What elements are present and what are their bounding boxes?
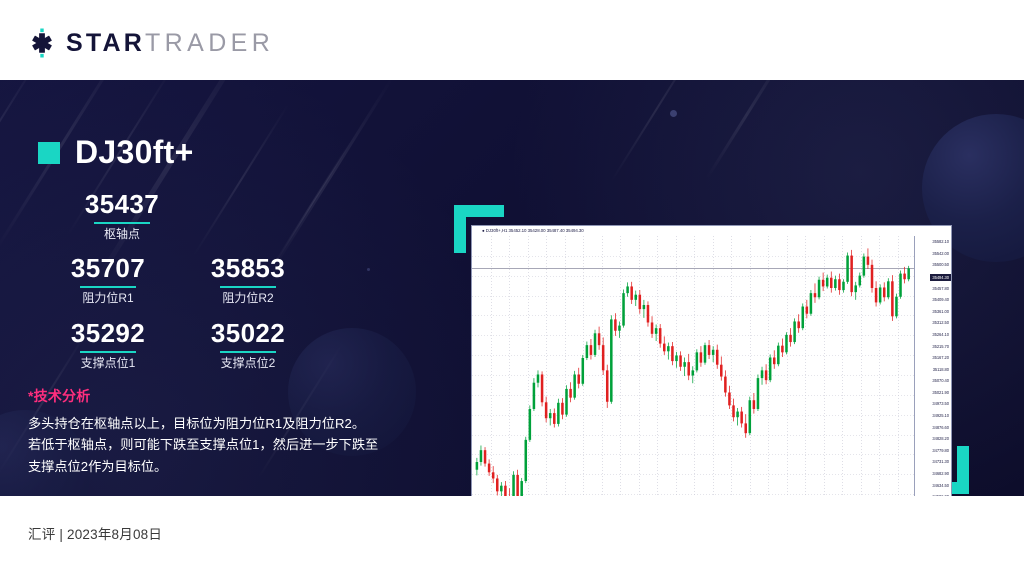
level-resistance-2-value: 35853 xyxy=(178,254,318,284)
page-header: STARTRADER xyxy=(0,0,1024,80)
bg-dot xyxy=(670,110,677,117)
chart-price-tick-label: 35118.80 xyxy=(933,367,949,372)
chart-title-bullet-icon: ● xyxy=(482,228,485,233)
chart-price-tick-label: 35215.70 xyxy=(932,344,949,349)
page-footer: 汇评 | 2023年8月08日 xyxy=(0,496,1024,576)
bg-streak xyxy=(705,80,787,179)
title-bullet-square xyxy=(38,142,60,164)
chart-price-tick-label: 34876.60 xyxy=(932,425,949,430)
main-panel: DJ30ft+ 35437 枢轴点 35707 阻力位R1 35853 阻力位R… xyxy=(0,80,1024,496)
level-support-1-value: 35292 xyxy=(38,319,178,349)
chart-plot-area xyxy=(472,236,916,496)
chart-price-tick-label: 34682.90 xyxy=(932,471,949,476)
bg-streak xyxy=(610,80,702,183)
chart-price-tick-label: 34925.10 xyxy=(932,413,949,418)
level-pivot: 35437 枢轴点 xyxy=(52,190,192,242)
level-underline xyxy=(94,222,150,224)
level-underline xyxy=(220,351,276,353)
level-underline xyxy=(80,286,136,288)
level-underline xyxy=(80,351,136,353)
analysis-line-1: 多头持仓在枢轴点以上，目标位为阻力位R1及阻力位R2。 xyxy=(28,413,428,434)
chart-price-tick-label: 35409.40 xyxy=(932,297,949,302)
chart-price-tick-label: 35582.10 xyxy=(932,239,949,244)
chart-price-tick-label: 35070.40 xyxy=(932,378,949,383)
chart-price-axis[interactable]: 35582.1035542.0035500.5035494.3035457.80… xyxy=(914,236,951,496)
chart-title-bar: ● DJ30ft+,H1 35452.10 35428.00 35487.40 … xyxy=(472,226,951,236)
chart-price-tick-label: 34634.50 xyxy=(932,483,949,488)
footer-caption: 汇评 | 2023年8月08日 xyxy=(28,523,162,543)
chart-price-tick-label: 34779.80 xyxy=(932,448,949,453)
level-support-1: 35292 支撑点位1 xyxy=(38,319,178,371)
brand-logo[interactable]: STARTRADER xyxy=(27,28,274,58)
chart-price-tick-label: 35021.90 xyxy=(932,390,949,395)
brand-name-bold: STAR xyxy=(66,29,145,57)
chart-current-price-tag: 35494.30 xyxy=(930,274,951,281)
chart-price-tick-label: 35542.00 xyxy=(932,251,949,256)
level-underline xyxy=(220,286,276,288)
analysis-line-2: 若低于枢轴点，则可能下跌至支撑点位1，然后进一步下跌至 xyxy=(28,434,428,455)
analysis-heading: *技术分析 xyxy=(28,386,428,406)
chart-price-tick-label: 35167.20 xyxy=(932,355,949,360)
level-pivot-value: 35437 xyxy=(52,190,192,220)
chart-price-tick-label: 35264.10 xyxy=(932,332,949,337)
chart-price-tick-label: 34973.50 xyxy=(932,401,949,406)
level-support-2: 35022 支撑点位2 xyxy=(178,319,318,371)
instrument-title: DJ30ft+ xyxy=(38,134,194,171)
analysis-line-3: 支撑点位2作为目标位。 xyxy=(28,456,428,477)
chart-price-tick-label: 35500.50 xyxy=(932,262,949,267)
chart-price-tick-label: 34828.20 xyxy=(932,436,949,441)
level-pivot-label: 枢轴点 xyxy=(52,227,192,243)
level-resistance-1: 35707 阻力位R1 xyxy=(38,254,178,306)
chart-title-text: DJ30ft+,H1 35452.10 35428.00 35487.40 35… xyxy=(486,228,584,233)
technical-analysis: *技术分析 多头持仓在枢轴点以上，目标位为阻力位R1及阻力位R2。 若低于枢轴点… xyxy=(28,386,428,477)
level-resistance-2-label: 阻力位R2 xyxy=(178,291,318,307)
chart-price-tick-label: 35312.50 xyxy=(932,320,949,325)
corner-bracket-top-left-horizontal xyxy=(454,205,504,217)
bg-streak xyxy=(0,80,42,216)
chart-price-tick-label: 35457.80 xyxy=(932,286,949,291)
page-title: DJ30ft+ xyxy=(75,134,194,171)
asterisk-star-icon xyxy=(27,28,57,58)
price-chart[interactable]: ● DJ30ft+,H1 35452.10 35428.00 35487.40 … xyxy=(471,225,952,496)
brand-name-light: TRADER xyxy=(145,29,274,57)
level-resistance-2: 35853 阻力位R2 xyxy=(178,254,318,306)
level-resistance-1-label: 阻力位R1 xyxy=(38,291,178,307)
level-support-2-value: 35022 xyxy=(178,319,318,349)
level-support-2-label: 支撑点位2 xyxy=(178,356,318,372)
level-support-1-label: 支撑点位1 xyxy=(38,356,178,372)
chart-price-tick-label: 35361.00 xyxy=(932,309,949,314)
chart-price-tick-label: 34731.30 xyxy=(932,459,949,464)
level-resistance-1-value: 35707 xyxy=(38,254,178,284)
pivot-levels: 35437 枢轴点 35707 阻力位R1 35853 阻力位R2 35292 … xyxy=(38,190,368,371)
